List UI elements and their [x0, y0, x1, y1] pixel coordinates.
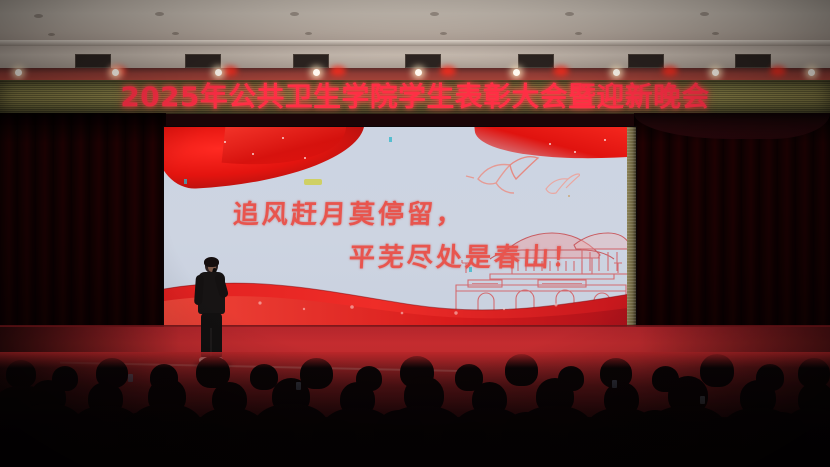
spotlight-icon [215, 69, 222, 76]
spotlight-icon [712, 69, 719, 76]
audience-area [0, 352, 830, 467]
spotlight-icon [613, 69, 620, 76]
ceiling-light-icon [430, 12, 439, 16]
ceiling-light-icon [172, 32, 179, 35]
sparkle-icon [604, 139, 606, 141]
sparkle-icon [252, 153, 254, 155]
air-vent-icon [293, 54, 329, 68]
spotlight-icon [415, 69, 422, 76]
led-banner: 2025年公共卫生学院学生表彰大会暨迎新晚会 [0, 80, 830, 114]
air-vent-icon [628, 54, 664, 68]
red-wall-glow [662, 66, 678, 76]
ceiling-light-icon [565, 12, 574, 16]
phone-screen-icon [700, 396, 705, 404]
phone-screen-icon [296, 382, 301, 390]
air-vent-icon [185, 54, 221, 68]
poem-line-1: 追风赶月莫停留， [232, 194, 466, 231]
sparkle-icon [224, 141, 226, 143]
ceiling-light-icon [155, 12, 164, 16]
sparkle-icon [282, 137, 284, 139]
spotlight-icon [313, 69, 320, 76]
ceiling-light-icon [700, 12, 709, 16]
spotlight-icon [513, 69, 520, 76]
ceiling-light-icon [48, 33, 55, 36]
dove-illustration [460, 145, 580, 205]
ceiling-light-icon [440, 32, 447, 35]
confetti-speck [568, 195, 570, 197]
ceiling-light-icon [305, 32, 312, 35]
red-wall-glow [330, 66, 346, 76]
spotlight-icon [112, 69, 119, 76]
audience-head [0, 414, 42, 458]
phone-screen-icon [612, 380, 617, 388]
air-vent-icon [75, 54, 111, 68]
ceiling-light-icon [712, 32, 719, 35]
event-title: 2025年公共卫生学院学生表彰大会暨迎新晚会 [120, 84, 709, 111]
red-wall-glow [222, 66, 238, 76]
audience-front-mass [0, 444, 830, 467]
curtain-top-shadow [634, 113, 830, 143]
spotlight-icon [808, 69, 815, 76]
confetti-speck [389, 137, 392, 142]
spotlight-icon [15, 69, 22, 76]
ceiling-light-icon [290, 12, 299, 16]
air-vent-icon [518, 54, 554, 68]
auditorium-photo: 2025年公共卫生学院学生表彰大会暨迎新晚会 [0, 0, 830, 467]
screen-side-frame [627, 127, 636, 327]
curtain-top-shadow [0, 113, 166, 143]
stage-light-spill [0, 352, 830, 368]
presenter-hair [204, 257, 219, 267]
confetti-speck [184, 179, 187, 184]
air-vent-icon [735, 54, 771, 68]
poem-accent-mark [304, 179, 322, 185]
red-wall-glow [770, 66, 786, 76]
red-wall-glow [440, 66, 456, 76]
ceiling-light-icon [575, 32, 582, 35]
air-vent-icon [405, 54, 441, 68]
ceiling-light-icon [34, 14, 43, 18]
sparkle-icon [304, 157, 306, 159]
phone-screen-icon [128, 374, 133, 382]
red-wall-glow [553, 66, 569, 76]
